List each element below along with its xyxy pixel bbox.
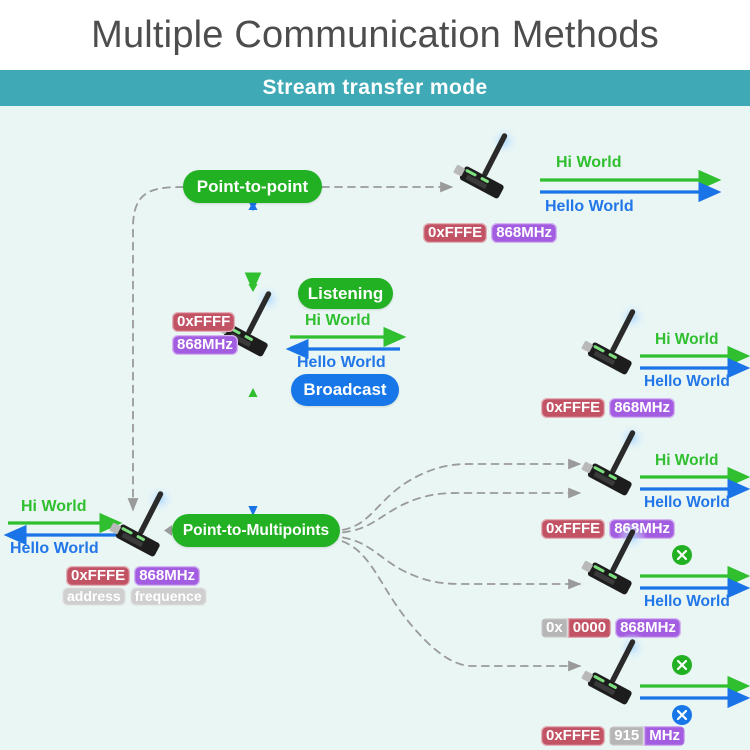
badge-frequency: 868MHz <box>491 223 557 243</box>
badge-frequency: 868MHz <box>609 398 675 418</box>
badge-row-right-4: 0xFFFE 915 MHz <box>541 726 685 746</box>
pill-broadcast-label: Broadcast <box>303 380 386 400</box>
circle-x-green-icon <box>671 654 693 676</box>
pill-point-to-point-label: Point-to-point <box>197 177 308 197</box>
diagram-canvas: Point-to-point Point-to-Multipoints List… <box>0 106 750 750</box>
pill-point-to-multipoints-label: Point-to-Multipoints <box>183 522 329 540</box>
message-top-right-hello: Hello World <box>545 198 634 216</box>
badge-address: 0xFFFE <box>541 726 605 746</box>
badge-frequency-prefix: 915 <box>609 726 644 746</box>
arrow-group-bottom-left <box>8 523 116 535</box>
message-bottom-left-hi: Hi World <box>21 498 86 516</box>
pill-point-to-multipoints[interactable]: Point-to-Multipoints <box>172 514 340 547</box>
page-title: Multiple Communication Methods <box>91 14 659 57</box>
title-bar: Multiple Communication Methods <box>0 0 750 70</box>
dongle-node-top-right <box>452 128 530 214</box>
circle-x-green-icon <box>671 544 693 566</box>
message-right-1-hi: Hi World <box>655 331 718 349</box>
pill-broadcast[interactable]: Broadcast <box>291 374 399 406</box>
subtitle-bar: Stream transfer mode <box>0 70 750 106</box>
badge-frequency: 868MHz <box>172 335 238 355</box>
badge-row-center-hub: 0xFFFF 868MHz <box>172 312 238 355</box>
badge-frequency: 915 MHz <box>609 726 685 746</box>
badge-row-right-1: 0xFFFE 868MHz <box>541 398 675 418</box>
circle-x-blue-icon <box>671 704 693 726</box>
subtitle-text: Stream transfer mode <box>262 76 487 100</box>
infographic-page: Multiple Communication Methods Stream tr… <box>0 0 750 750</box>
badge-frequency-suffix: MHz <box>644 726 685 746</box>
badge-address-prefix: 0x <box>541 618 568 638</box>
badge-address: 0xFFFF <box>172 312 235 332</box>
blocked-blue-marker-right-4 <box>671 704 693 726</box>
badge-row-bottom-left: 0xFFFE 868MHz <box>66 566 200 586</box>
message-right-2-hello: Hello World <box>644 494 730 512</box>
arrow-group-center-hub <box>290 337 400 349</box>
dongle-node-bottom-left <box>108 486 186 572</box>
badge-row-top-right: 0xFFFE 868MHz <box>423 223 557 243</box>
usb-dongle-icon <box>108 486 186 572</box>
blocked-green-marker-right-4 <box>671 654 693 676</box>
badge-address: 0xFFFE <box>541 398 605 418</box>
message-top-right-hi: Hi World <box>556 154 621 172</box>
pill-point-to-point[interactable]: Point-to-point <box>183 170 322 203</box>
caption-frequence: frequence <box>130 587 207 606</box>
message-center-hub-hello: Hello World <box>297 354 386 372</box>
pill-listening-label: Listening <box>308 284 384 304</box>
message-right-1-hello: Hello World <box>644 373 730 391</box>
message-bottom-left-hello: Hello World <box>10 540 99 558</box>
usb-dongle-icon <box>452 128 530 214</box>
blocked-green-marker-right-3 <box>671 544 693 566</box>
dongle-node-right-4 <box>580 634 658 720</box>
pill-listening[interactable]: Listening <box>298 278 393 309</box>
usb-dongle-icon <box>580 634 658 720</box>
message-center-hub-hi: Hi World <box>305 312 370 330</box>
arrow-group-top-right <box>540 180 715 192</box>
message-right-2-hi: Hi World <box>655 452 718 470</box>
badge-frequency: 868MHz <box>134 566 200 586</box>
message-right-3-hello: Hello World <box>644 593 730 611</box>
caption-address: address <box>62 587 126 606</box>
badge-address: 0xFFFE <box>66 566 130 586</box>
caption-row-bottom-left: address frequence <box>62 587 207 606</box>
badge-address: 0xFFFE <box>423 223 487 243</box>
